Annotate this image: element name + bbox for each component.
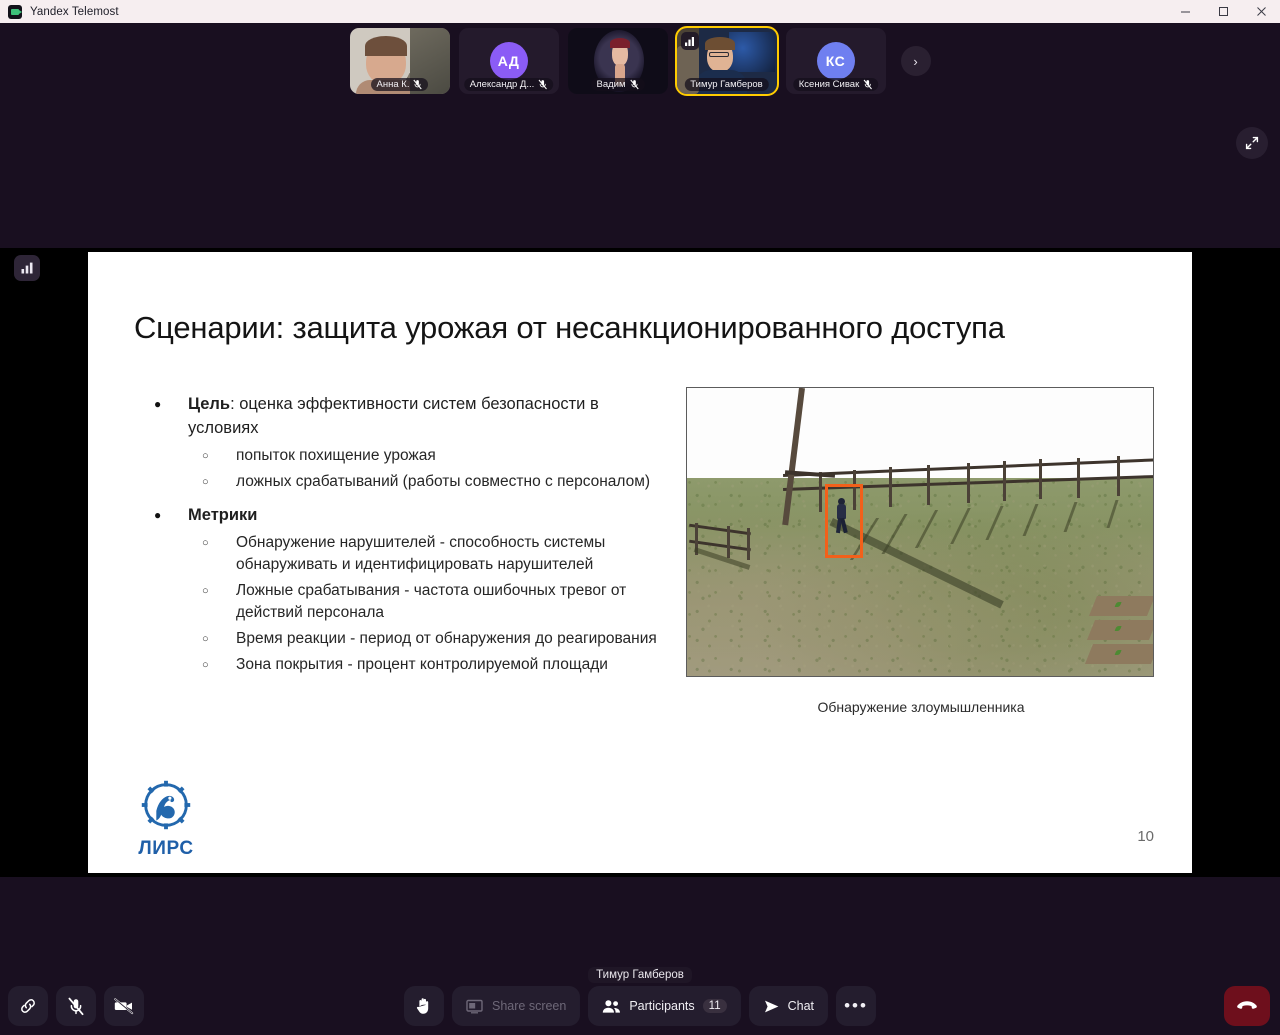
participant-thumbnail-active[interactable]: Тимур Гамберов (677, 28, 777, 94)
expand-fullscreen-icon (1244, 135, 1260, 151)
logo-text: ЛИРС (126, 838, 206, 860)
participants-count: 11 (703, 999, 727, 1013)
meeting-stage: Анна К. АД Александр Д... (0, 23, 1280, 1035)
sub-bullet: попыток похищение урожая (188, 445, 658, 467)
maximize-icon[interactable] (1204, 0, 1242, 23)
participants-button[interactable]: Participants 11 (588, 986, 740, 1026)
mic-off-icon (538, 79, 547, 90)
more-options-button[interactable]: ••• (836, 986, 876, 1026)
crop-plot (1085, 644, 1154, 664)
detection-bounding-box (825, 484, 863, 558)
mic-off-icon (67, 997, 85, 1016)
shared-screen-area: Сценарии: защита урожая от несанкциониро… (0, 248, 1280, 877)
sub-bullet: Время реакции - период от обнаружения до… (188, 628, 658, 650)
metrics-label: Метрики (188, 506, 257, 524)
bullet-goal: Цель: оценка эффективности систем безопа… (138, 392, 658, 493)
participant-name: Тимур Гамберов (690, 79, 762, 90)
window-controls (1166, 0, 1280, 23)
participant-name-bar: Ксения Сивак (793, 78, 878, 91)
chat-label: Chat (788, 999, 814, 1013)
participant-name: Анна К. (377, 79, 410, 90)
slide-figure: Обнаружение злоумышленника (686, 387, 1156, 715)
participant-name: Александр Д... (470, 79, 535, 90)
participant-name-bar: Вадим (590, 78, 644, 91)
presentation-bars-icon (684, 36, 695, 47)
participant-name-bar: Анна К. (371, 78, 429, 91)
sub-bullet: ложных срабатываний (работы совместно с … (188, 471, 658, 493)
share-screen-label: Share screen (492, 999, 566, 1013)
gear-icon (135, 774, 197, 836)
avatar-initials: КС (826, 53, 845, 69)
presentation-slide: Сценарии: защита урожая от несанкциониро… (88, 252, 1192, 873)
close-icon[interactable] (1242, 0, 1280, 23)
sub-bullet: Зона покрытия - процент контролируемой п… (188, 654, 658, 676)
participants-label: Participants (629, 999, 694, 1013)
mic-off-icon (630, 79, 639, 90)
participant-name: Ксения Сивак (799, 79, 859, 90)
app-icon (8, 5, 22, 19)
participant-thumbnail[interactable]: Вадим (568, 28, 668, 94)
window-title: Yandex Telemost (30, 6, 119, 18)
presentation-bars-icon (20, 261, 34, 275)
camera-off-icon (114, 997, 134, 1015)
participant-name: Вадим (596, 79, 625, 90)
participant-thumbnail[interactable]: Анна К. (350, 28, 450, 94)
figure-ground (687, 478, 1153, 676)
slide-title: Сценарии: защита урожая от несанкциониро… (134, 310, 1154, 346)
microphone-toggle-button[interactable] (56, 986, 96, 1026)
screen-share-indicator (14, 255, 40, 281)
window-titlebar: Yandex Telemost (0, 0, 1280, 23)
bullet-metrics: Метрики Обнаружение нарушителей - способ… (138, 503, 658, 676)
avatar-initials: АД (498, 53, 520, 69)
send-plane-icon (763, 999, 780, 1014)
goal-label: Цель (188, 395, 230, 413)
crop-plot (1089, 596, 1154, 616)
presenting-indicator-icon (681, 32, 699, 50)
goal-text: : оценка эффективности систем безопаснос… (188, 395, 599, 437)
participant-name-bar: Тимур Гамберов (684, 78, 768, 91)
minimize-icon[interactable] (1166, 0, 1204, 23)
camera-toggle-button[interactable] (104, 986, 144, 1026)
participant-thumbnail[interactable]: КС Ксения Сивак (786, 28, 886, 94)
mic-off-icon (413, 79, 422, 90)
avatar: АД (490, 42, 528, 80)
people-icon (602, 999, 621, 1014)
slide-bullet-content: Цель: оценка эффективности систем безопа… (138, 392, 658, 680)
expand-fullscreen-button[interactable] (1236, 127, 1268, 159)
avatar: КС (817, 42, 855, 80)
sub-bullet: Ложные срабатывания - частота ошибочных … (188, 580, 658, 624)
raise-hand-button[interactable] (404, 986, 444, 1026)
participant-name-bar: Александр Д... (464, 78, 554, 91)
slide-page-number: 10 (1137, 828, 1154, 845)
hangup-button[interactable] (1224, 986, 1270, 1026)
copy-link-button[interactable] (8, 986, 48, 1026)
sub-bullet: Обнаружение нарушителей - способность си… (188, 532, 658, 576)
participant-filmstrip: Анна К. АД Александр Д... (0, 28, 1280, 94)
share-screen-button[interactable]: Share screen (452, 986, 580, 1026)
lirs-logo: ЛИРС (126, 774, 206, 860)
link-icon (19, 997, 37, 1015)
filmstrip-next-button[interactable]: › (901, 46, 931, 76)
screen-share-icon (466, 999, 484, 1014)
meeting-toolbar: Share screen Participants 11 Chat (0, 977, 1280, 1035)
figure-caption: Обнаружение злоумышленника (686, 699, 1156, 715)
crop-plot (1087, 620, 1154, 640)
mic-off-icon (863, 79, 872, 90)
more-options-label: ••• (844, 1001, 868, 1011)
phone-hangup-icon (1236, 999, 1258, 1013)
detection-screenshot (686, 387, 1154, 677)
participant-thumbnail[interactable]: АД Александр Д... (459, 28, 559, 94)
hand-icon (414, 996, 434, 1016)
chat-button[interactable]: Chat (749, 986, 828, 1026)
